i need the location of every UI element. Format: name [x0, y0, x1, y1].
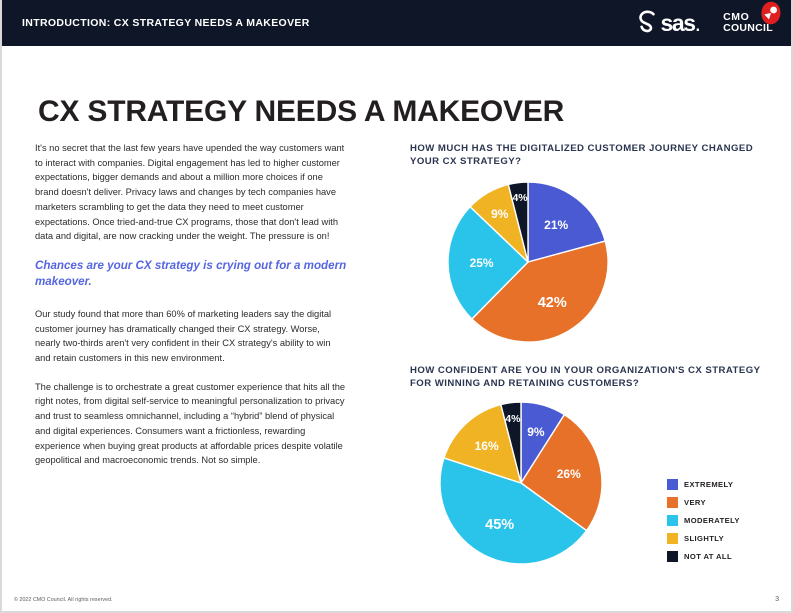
- header-section-title: INTRODUCTION: CX STRATEGY NEEDS A MAKEOV…: [22, 17, 310, 29]
- page-canvas: INTRODUCTION: CX STRATEGY NEEDS A MAKEOV…: [0, 0, 793, 613]
- cmo-council-logo: CMO COUNCIL: [723, 12, 773, 33]
- sas-logo: sas .: [637, 10, 701, 37]
- page-header-bar: INTRODUCTION: CX STRATEGY NEEDS A MAKEOV…: [2, 0, 793, 46]
- footer-copyright: © 2022 CMO Council. All rights reserved.: [14, 597, 113, 603]
- legend-item[interactable]: NOT AT ALL: [667, 549, 787, 564]
- legend-swatch-icon: [667, 533, 678, 544]
- paragraph-2: Our study found that more than 60% of ma…: [35, 307, 347, 366]
- cmo-blob-icon: [760, 1, 782, 25]
- header-logo-group: sas . CMO COUNCIL: [637, 10, 773, 37]
- legend-item[interactable]: SLIGHTLY: [667, 531, 787, 546]
- chart-block-1: HOW MUCH HAS THE DIGITALIZED CUSTOMER JO…: [410, 142, 770, 342]
- paragraph-1: It's no secret that the last few years h…: [35, 141, 347, 244]
- chart-2-heading: HOW CONFIDENT ARE YOU IN YOUR ORGANIZATI…: [410, 364, 770, 390]
- paragraph-3: The challenge is to orchestrate a great …: [35, 380, 347, 468]
- footer-page-number: 3: [775, 596, 779, 603]
- pull-quote-callout: Chances are your CX strategy is crying o…: [35, 258, 347, 291]
- legend-item-label: VERY: [684, 498, 706, 507]
- pie-chart-1: 21%42%25%9%4%: [448, 182, 608, 342]
- legend-item-label: NOT AT ALL: [684, 552, 732, 561]
- legend-item[interactable]: VERY: [667, 495, 787, 510]
- legend-swatch-icon: [667, 515, 678, 526]
- sas-logo-wordmark: sas: [660, 12, 694, 35]
- legend-swatch-icon: [667, 479, 678, 490]
- legend-swatch-icon: [667, 497, 678, 508]
- legend-item[interactable]: MODERATELY: [667, 513, 787, 528]
- legend-item-label: MODERATELY: [684, 516, 740, 525]
- pie-1-svg: [448, 182, 608, 342]
- legend-swatch-icon: [667, 551, 678, 562]
- legend-item-label: SLIGHTLY: [684, 534, 724, 543]
- chart-1-heading: HOW MUCH HAS THE DIGITALIZED CUSTOMER JO…: [410, 142, 770, 168]
- sas-swirl-icon: [637, 10, 659, 36]
- pie-chart-2: 9%26%45%16%4%: [440, 402, 602, 564]
- page-title: CX STRATEGY NEEDS A MAKEOVER: [38, 95, 564, 129]
- chart-legend: EXTREMELYVERYMODERATELYSLIGHTLYNOT AT AL…: [667, 477, 787, 567]
- sas-logo-dot: .: [695, 10, 701, 37]
- article-text-column: It's no secret that the last few years h…: [35, 141, 347, 482]
- pie-2-svg: [440, 402, 602, 564]
- legend-item-label: EXTREMELY: [684, 480, 733, 489]
- legend-item[interactable]: EXTREMELY: [667, 477, 787, 492]
